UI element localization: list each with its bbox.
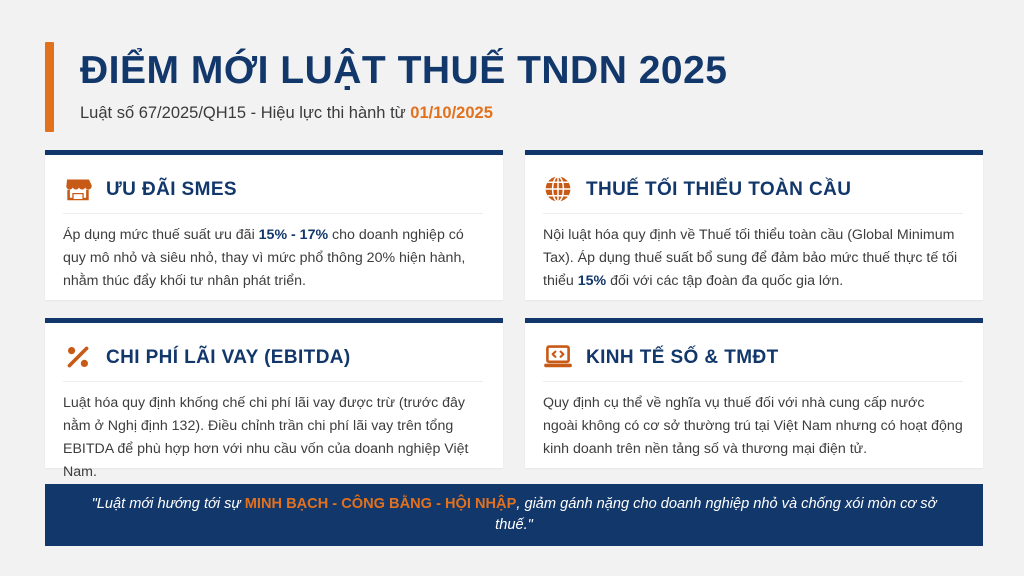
card-body: Luật hóa quy định khống chế chi phí lãi … — [63, 392, 483, 484]
card-header: THUẾ TỐI THIỂU TOÀN CẦU — [543, 169, 963, 214]
globe-icon — [543, 174, 573, 204]
card-title: THUẾ TỐI THIỂU TOÀN CẦU — [586, 180, 851, 199]
card-uu-dai-smes: ƯU ĐÃI SMES Áp dụng mức thuế suất ưu đãi… — [45, 150, 503, 300]
footer-quote: "Luật mới hướng tới sự MINH BẠCH - CÔNG … — [71, 494, 957, 535]
footer-banner: "Luật mới hướng tới sự MINH BẠCH - CÔNG … — [45, 484, 983, 546]
card-body: Áp dụng mức thuế suất ưu đãi 15% - 17% c… — [63, 224, 483, 293]
infographic-page: ĐIỂM MỚI LUẬT THUẾ TNDN 2025 Luật số 67/… — [0, 0, 1024, 576]
card-header: KINH TẾ SỐ & TMĐT — [543, 337, 963, 382]
subtitle-effective-date: 01/10/2025 — [410, 104, 493, 122]
header-text-block: ĐIỂM MỚI LUẬT THUẾ TNDN 2025 Luật số 67/… — [54, 42, 727, 132]
card-chi-phi-lai-vay: CHI PHÍ LÃI VAY (EBITDA) Luật hóa quy đị… — [45, 318, 503, 468]
card-thue-toi-thieu-toan-cau: THUẾ TỐI THIỂU TOÀN CẦU Nội luật hóa quy… — [525, 150, 983, 300]
card-kinh-te-so-tmdt: KINH TẾ SỐ & TMĐT Quy định cụ thể về ngh… — [525, 318, 983, 468]
header: ĐIỂM MỚI LUẬT THUẾ TNDN 2025 Luật số 67/… — [45, 42, 985, 132]
page-subtitle: Luật số 67/2025/QH15 - Hiệu lực thi hành… — [80, 104, 727, 124]
card-grid: ƯU ĐÃI SMES Áp dụng mức thuế suất ưu đãi… — [45, 150, 983, 468]
laptop-code-icon — [543, 342, 573, 372]
card-body: Quy định cụ thể về nghĩa vụ thuế đối với… — [543, 392, 963, 461]
card-title: KINH TẾ SỐ & TMĐT — [586, 348, 779, 367]
card-header: CHI PHÍ LÃI VAY (EBITDA) — [63, 337, 483, 382]
page-title: ĐIỂM MỚI LUẬT THUẾ TNDN 2025 — [80, 50, 727, 92]
percent-icon — [63, 342, 93, 372]
subtitle-prefix: Luật số 67/2025/QH15 - Hiệu lực thi hành… — [80, 104, 410, 122]
card-title: ƯU ĐÃI SMES — [106, 180, 237, 199]
card-title: CHI PHÍ LÃI VAY (EBITDA) — [106, 348, 351, 367]
card-body: Nội luật hóa quy định về Thuế tối thiểu … — [543, 224, 963, 293]
card-header: ƯU ĐÃI SMES — [63, 169, 483, 214]
storefront-icon — [63, 174, 93, 204]
header-accent-bar — [45, 42, 54, 132]
